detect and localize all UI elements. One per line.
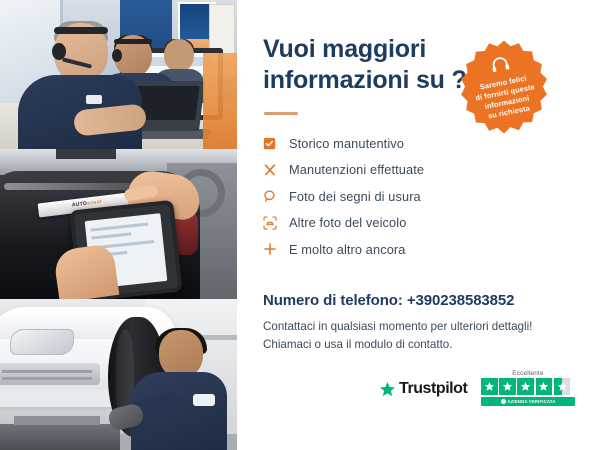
promo-banner: AUTOscout Vuoi maggi — [0, 0, 600, 450]
phone-number[interactable]: Numero di telefono: +390238583852 — [263, 292, 514, 309]
list-item-label: Manutenzioni effettuate — [289, 162, 424, 177]
list-item-label: Foto dei segni di usura — [289, 189, 421, 204]
star-filled-3 — [517, 378, 534, 395]
content-panel: Vuoi maggiori informazioni su ? Storico … — [237, 0, 600, 450]
trustpilot-widget[interactable]: Trustpilot Eccellente AZIENDA VERIFICATA — [379, 370, 575, 422]
car-lift-decor — [0, 424, 120, 450]
checkbox-checked-icon — [263, 137, 289, 150]
list-item-manutenzioni-effettuate: Manutenzioni effettuate — [263, 157, 503, 184]
check-circle-icon — [501, 399, 506, 404]
star-filled-1 — [481, 378, 498, 395]
star-filled-2 — [499, 378, 516, 395]
feature-list: Storico manutentivo Manutenzioni effettu… — [263, 130, 503, 263]
title-divider — [264, 112, 298, 115]
trustpilot-rating: Eccellente AZIENDA VERIFICATA — [481, 370, 575, 406]
star-filled-4 — [536, 378, 553, 395]
verified-badge: AZIENDA VERIFICATA — [481, 397, 575, 407]
page-title: Vuoi maggiori informazioni su ? — [263, 34, 473, 95]
list-item-foto-segni-usura: Foto dei segni di usura — [263, 183, 503, 210]
status-badge: Saremo felici di fornirti queste informa… — [456, 39, 552, 135]
trustpilot-wordmark: Trustpilot — [399, 380, 467, 398]
photo-wheel-check — [0, 299, 237, 450]
list-item-label: E molto altro ancora — [289, 242, 406, 257]
plus-icon — [263, 242, 289, 256]
heading-line-2: informazioni su ? — [263, 65, 473, 96]
photo-collage: AUTOscout — [0, 0, 237, 450]
headset-icon — [489, 55, 512, 79]
person-mechanic — [131, 330, 227, 450]
orange-panel-decor — [203, 53, 237, 149]
list-item-altre-foto-veicolo: Altre foto del veicolo — [263, 210, 503, 237]
photo-vehicle-inspection: AUTOscout — [0, 149, 237, 299]
list-item-label: Altre foto del veicolo — [289, 215, 406, 230]
car-scan-frame-icon — [263, 216, 289, 230]
photo-call-center-agents — [0, 0, 237, 149]
contact-description: Contattaci in qualsiasi momento per ulte… — [263, 318, 553, 353]
verified-label: AZIENDA VERIFICATA — [508, 399, 556, 404]
list-item-label: Storico manutentivo — [289, 136, 404, 151]
magnifier-icon — [263, 189, 289, 203]
list-item-molto-altro: E molto altro ancora — [263, 236, 503, 263]
star-half-5 — [554, 378, 571, 395]
person-foreground-agent — [12, 21, 140, 149]
contact-line-2: Chiamaci o usa il modulo di contatto. — [263, 336, 553, 354]
star-rating — [481, 378, 575, 395]
rating-label: Eccellente — [481, 370, 575, 377]
contact-line-1: Contattaci in qualsiasi momento per ulte… — [263, 318, 553, 336]
trustpilot-logo: Trustpilot — [379, 380, 467, 398]
heading-line-1: Vuoi maggiori — [263, 34, 473, 65]
tools-cross-icon — [263, 163, 289, 177]
trustpilot-star-icon — [379, 381, 396, 398]
